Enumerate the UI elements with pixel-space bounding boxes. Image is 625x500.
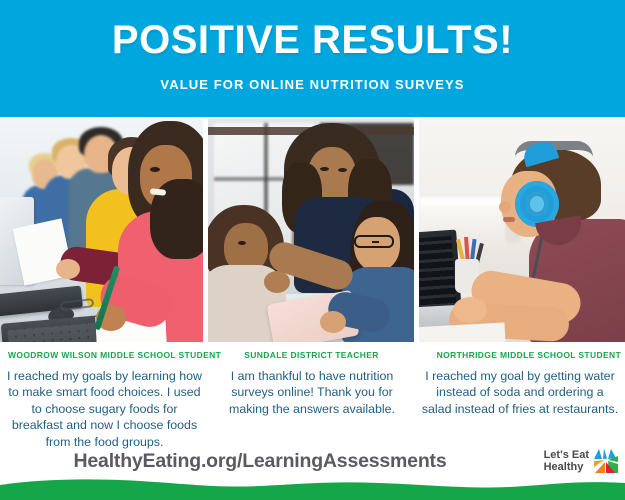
testimonial-photo-2	[208, 119, 414, 342]
quote-row: I reached my goals by learning how to ma…	[0, 368, 625, 444]
website-url[interactable]: HealthyEating.org/LearningAssessments	[0, 450, 520, 473]
brand-logo-line1: Let's Eat	[544, 449, 589, 461]
header-banner: POSITIVE RESULTS! VALUE FOR ONLINE NUTRI…	[0, 0, 625, 117]
teacher-helping-students-with-tablet-photo	[208, 119, 414, 342]
testimonial-photo-1	[0, 119, 203, 342]
lets-eat-healthy-sunburst-logo	[593, 448, 619, 474]
photo-row	[0, 119, 625, 342]
page-subtitle: VALUE FOR ONLINE NUTRITION SURVEYS	[160, 77, 464, 92]
brand-logo-text: Let's Eat Healthy	[544, 449, 589, 473]
testimonial-quote-3: I reached my goal by getting water inste…	[415, 368, 625, 444]
brand-logo: Let's Eat Healthy	[544, 448, 619, 474]
poster-canvas: POSITIVE RESULTS! VALUE FOR ONLINE NUTRI…	[0, 0, 625, 500]
brand-logo-line2: Healthy	[544, 461, 589, 473]
source-label-1: WOODROW WILSON MIDDLE SCHOOL STUDENT	[0, 348, 208, 362]
source-label-3: NORTHRIDGE MIDDLE SCHOOL STUDENT	[415, 348, 625, 362]
student-with-headphones-at-laptop-photo	[419, 119, 625, 342]
source-label-2: SUNDALE DISTRICT TEACHER	[208, 348, 415, 362]
caption-row: WOODROW WILSON MIDDLE SCHOOL STUDENT SUN…	[0, 348, 625, 362]
testimonial-quote-2: I am thankful to have nutrition surveys …	[209, 368, 415, 444]
page-title: POSITIVE RESULTS!	[112, 20, 513, 60]
footer: HealthyEating.org/LearningAssessments Le…	[0, 446, 625, 500]
green-grass-wave	[0, 476, 625, 500]
students-at-computer-lab-photo	[0, 119, 203, 342]
testimonial-photo-3	[419, 119, 625, 342]
testimonial-quote-1: I reached my goals by learning how to ma…	[0, 368, 209, 444]
